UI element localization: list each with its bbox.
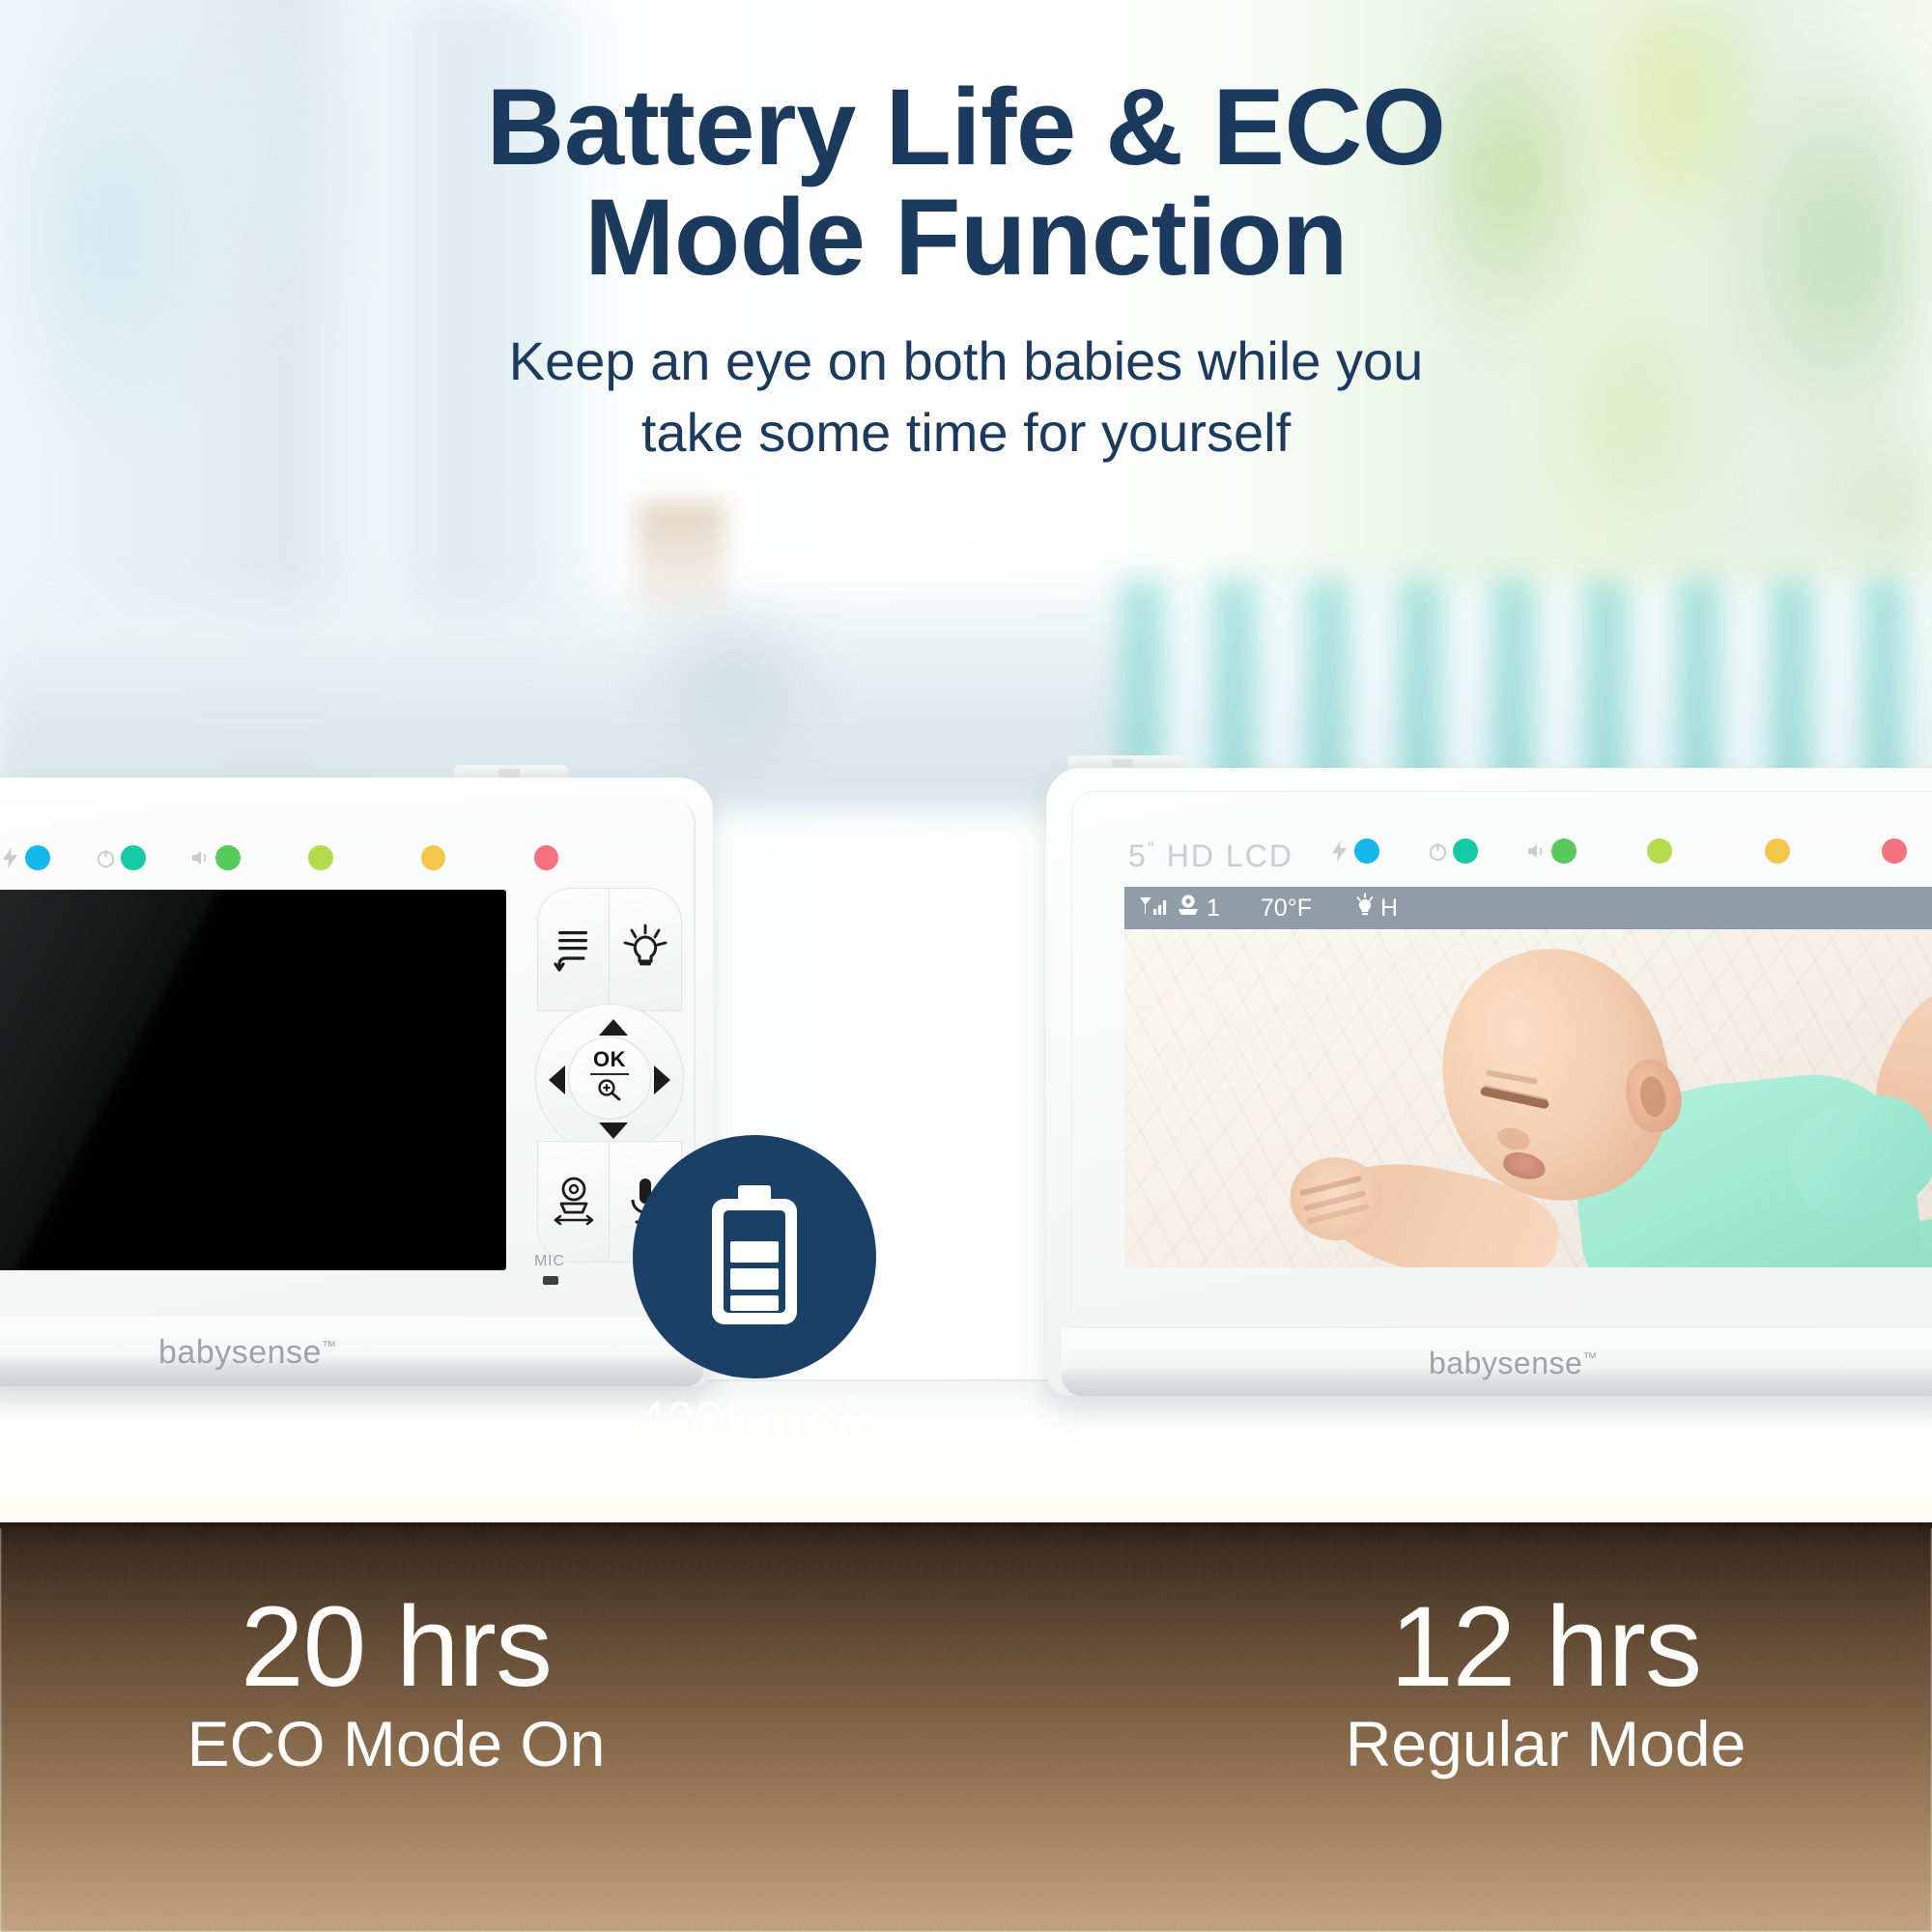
trademark-symbol: ™ (322, 1339, 337, 1355)
down-button[interactable] (599, 1122, 628, 1139)
left-button[interactable] (549, 1065, 565, 1094)
charging-led-group-right (1327, 838, 1379, 864)
charging-led-group (0, 845, 50, 870)
led-indicator-row-right (1327, 837, 1907, 866)
subtitle-line-2: take some time for yourself (0, 397, 1932, 469)
speaker-icon (188, 845, 213, 870)
power-icon (1426, 838, 1451, 864)
regular-mode-stat: 12 hrs Regular Mode (1207, 1589, 1884, 1779)
monitor-left: OK (0, 778, 713, 1386)
right-button[interactable] (654, 1065, 670, 1094)
page-title: Battery Life & ECO Mode Function (0, 72, 1932, 293)
charging-led (25, 845, 50, 870)
battery-badge: 4000 mAh (633, 1135, 876, 1378)
night-light-indicator: H (1354, 893, 1398, 924)
monitor-left-chin: babysense™ (0, 1317, 703, 1386)
brand-logo-right: babysense™ (1429, 1346, 1598, 1381)
camera-icon (1175, 894, 1202, 923)
level-2-led (1765, 838, 1790, 864)
led-indicator-row-left (0, 843, 558, 872)
monitor-right: 5" HD LCD (1046, 768, 1932, 1396)
camera-number: 1 (1207, 895, 1220, 923)
level-1-led (1647, 838, 1672, 864)
title-line-2: Mode Function (0, 183, 1932, 293)
regular-mode-label: Regular Mode (1207, 1709, 1884, 1779)
night-light-icon (1354, 893, 1376, 924)
page-subtitle: Keep an eye on both babies while you tak… (0, 326, 1932, 469)
level-3-led (1882, 838, 1907, 864)
volume-led-group (188, 845, 241, 870)
charging-bolt-icon (0, 845, 23, 870)
title-line-1: Battery Life & ECO (487, 67, 1446, 187)
battery-capacity-label: 4000 mAh (575, 1391, 934, 1449)
power-led (1453, 838, 1478, 864)
camera-indicator: 1 (1175, 894, 1220, 923)
ok-zoom-button[interactable]: OK (568, 1037, 651, 1120)
monitor-left-bezel: OK (0, 801, 696, 1317)
mic-label: MIC (534, 1253, 565, 1270)
level-1-led (308, 845, 332, 870)
level-3-led (534, 845, 558, 870)
temperature-readout: 70°F (1261, 895, 1312, 923)
camera-switch-button[interactable] (537, 1141, 609, 1263)
headline-block: Battery Life & ECO Mode Function Keep an… (0, 72, 1932, 469)
background-decor (638, 502, 724, 628)
power-led (121, 845, 146, 870)
eco-mode-value: 20 hrs (58, 1589, 734, 1705)
monitor-right-bezel: 5" HD LCD (1071, 791, 1932, 1328)
up-button[interactable] (599, 1019, 628, 1036)
power-led-group-right (1426, 838, 1478, 864)
monitor-left-body: OK (0, 778, 713, 1386)
shelf-surface (0, 1381, 1932, 1526)
osd-status-bar: 1 70°F (1124, 887, 1932, 929)
battery-full-icon (696, 1183, 813, 1331)
level-2-led (421, 845, 445, 870)
monitor-right-chin: babysense™ (1062, 1328, 1932, 1396)
volume-led-group-right (1524, 838, 1577, 864)
battery-badge-circle (633, 1135, 876, 1378)
charging-bolt-icon (1327, 838, 1352, 864)
eco-mode-label: ECO Mode On (58, 1709, 734, 1779)
power-led-group (94, 845, 146, 870)
mic-hole (543, 1276, 558, 1285)
brand-logo-left: babysense™ (158, 1334, 336, 1372)
eco-mode-stat: 20 hrs ECO Mode On (58, 1589, 734, 1779)
monitor-left-screen[interactable] (0, 890, 506, 1270)
brightness-button[interactable] (609, 888, 682, 1011)
night-light-state: H (1380, 895, 1398, 923)
signal-bars-icon (1138, 895, 1167, 921)
regular-mode-value: 12 hrs (1207, 1589, 1884, 1705)
power-icon (94, 845, 119, 870)
trademark-symbol: ™ (1582, 1350, 1598, 1366)
zoom-in-icon (596, 1077, 623, 1107)
monitor-right-body: 5" HD LCD (1046, 768, 1932, 1396)
dpad: OK (535, 1004, 684, 1154)
monitor-right-screen[interactable]: 1 70°F (1124, 887, 1932, 1267)
menu-back-button[interactable] (537, 888, 609, 1011)
subtitle-line-1: Keep an eye on both babies while you (0, 326, 1932, 397)
volume-led (215, 845, 241, 870)
lcd-size-label: 5" HD LCD (1128, 838, 1293, 874)
charging-led (1354, 838, 1379, 864)
ok-divider (590, 1073, 629, 1075)
volume-led (1551, 838, 1577, 864)
ok-label: OK (593, 1049, 626, 1070)
live-video-feed (1124, 929, 1932, 1267)
speaker-icon (1524, 838, 1549, 864)
